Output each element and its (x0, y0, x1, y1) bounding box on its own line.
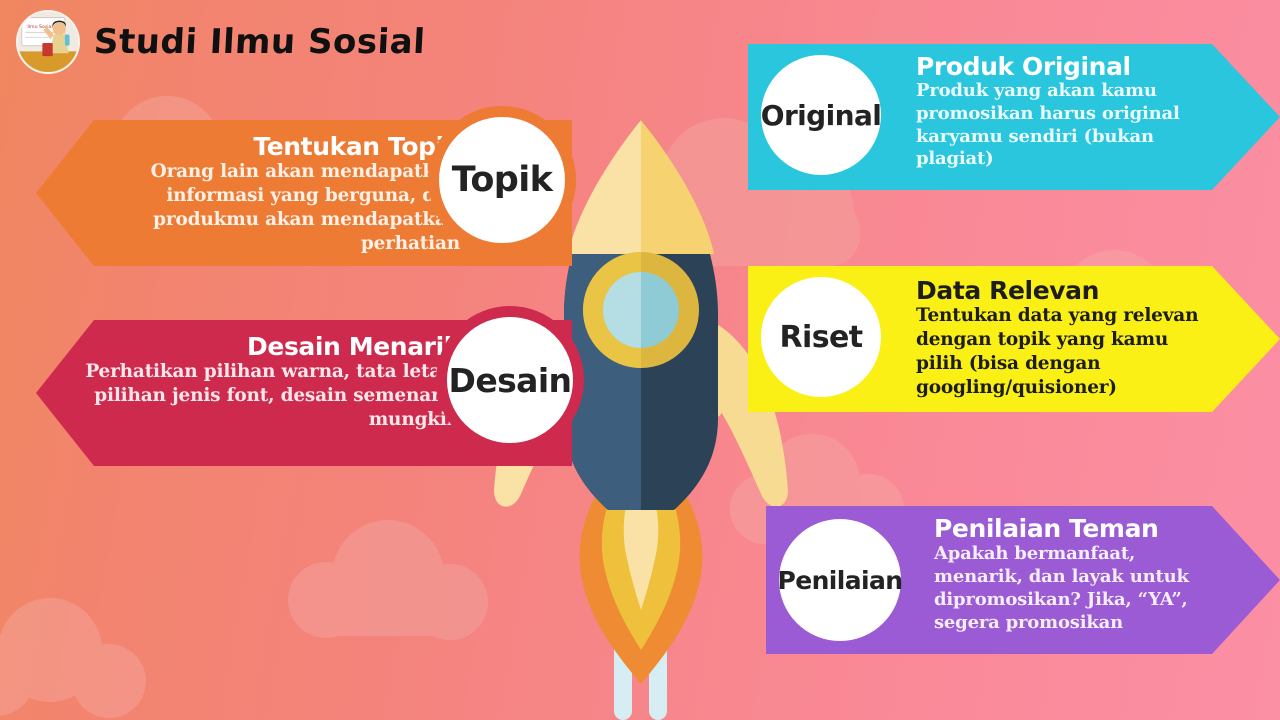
callout-original[interactable]: Produk Original Produk yang akan kamu pr… (748, 44, 1280, 190)
cloud-decoration (0, 598, 150, 714)
callout-title: Produk Original (916, 54, 1131, 80)
infographic-canvas: Ilmu Sosial Studi Ilmu Sosial Tentukan T… (0, 0, 1280, 720)
porthole-window (583, 252, 699, 368)
callout-body: Perhatikan pilihan warna, tata letak, pi… (70, 360, 460, 432)
cloud-decoration (288, 520, 490, 638)
callout-badge-label: Desain (449, 361, 572, 400)
callout-body: Produk yang akan kamu promosikan harus o… (916, 80, 1200, 171)
callout-body: Apakah bermanfaat, menarik, dan layak un… (934, 542, 1200, 634)
callout-title: Penilaian Teman (934, 516, 1158, 542)
callout-badge-original[interactable]: Original (750, 44, 892, 186)
brand-header: Ilmu Sosial Studi Ilmu Sosial (16, 10, 425, 74)
callout-badge-label: Penilaian (778, 566, 903, 595)
callout-badge-penilaian[interactable]: Penilaian (768, 508, 912, 652)
callout-title: Desain Menarik (247, 334, 460, 360)
brand-title: Studi Ilmu Sosial (93, 22, 426, 62)
callout-riset[interactable]: Data Relevan Tentukan data yang relevan … (748, 266, 1280, 412)
nose-cone (568, 120, 714, 254)
callout-body: Tentukan data yang relevan dengan topik … (916, 304, 1200, 400)
callout-topik[interactable]: Tentukan Topik Orang lain akan mendapatk… (36, 120, 572, 266)
callout-badge-topik[interactable]: Topik (428, 106, 576, 254)
callout-desain[interactable]: Desain Menarik Perhatikan pilihan warna,… (36, 320, 572, 466)
callout-badge-label: Topik (452, 160, 553, 200)
callout-badge-label: Riset (780, 320, 863, 355)
callout-body: Orang lain akan mendapatkan informasi ya… (70, 160, 460, 256)
callout-title: Data Relevan (916, 278, 1099, 304)
callout-badge-label: Original (761, 99, 881, 132)
callout-badge-desain[interactable]: Desain (436, 306, 584, 454)
callout-penilaian[interactable]: Penilaian Teman Apakah bermanfaat, menar… (766, 506, 1280, 654)
callout-badge-riset[interactable]: Riset (750, 266, 892, 408)
teacher-avatar-icon: Ilmu Sosial (16, 10, 80, 74)
callout-title: Tentukan Topik (253, 134, 460, 160)
svg-text:Ilmu Sosial: Ilmu Sosial (27, 24, 52, 30)
